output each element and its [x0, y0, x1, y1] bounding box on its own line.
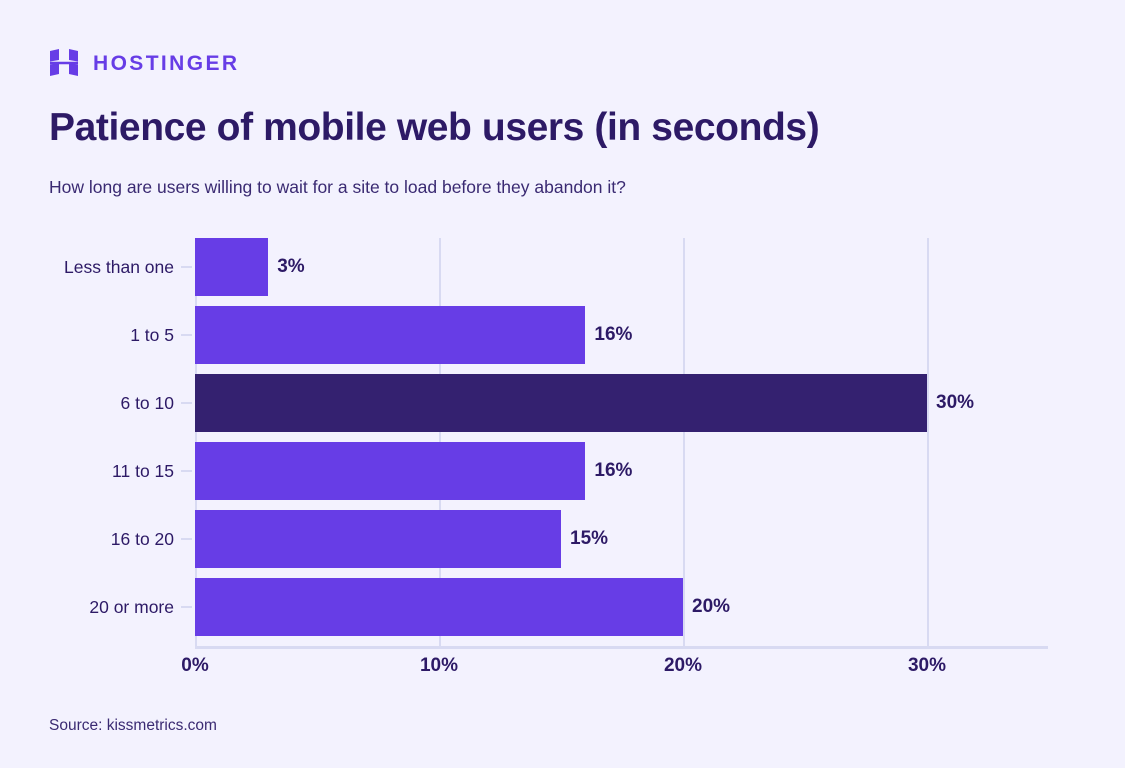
category-label: Less than one — [0, 238, 174, 296]
y-axis-tick-mark — [181, 470, 192, 472]
bar-row: 1 to 516% — [0, 306, 1125, 364]
x-axis-line — [195, 646, 1048, 649]
y-axis-tick-mark — [181, 606, 192, 608]
page-title: Patience of mobile web users (in seconds… — [49, 106, 819, 151]
bar-row: 20 or more20% — [0, 578, 1125, 636]
category-label: 11 to 15 — [0, 442, 174, 500]
bar[interactable] — [195, 442, 585, 500]
page-subtitle: How long are users willing to wait for a… — [49, 176, 626, 199]
bar-row: 11 to 1516% — [0, 442, 1125, 500]
y-axis-tick-mark — [181, 334, 192, 336]
bar-value-label: 15% — [570, 510, 608, 568]
bar-chart: Less than one3%1 to 516%6 to 1030%11 to … — [0, 238, 1125, 650]
category-label: 16 to 20 — [0, 510, 174, 568]
y-axis-tick-mark — [181, 266, 192, 268]
bar[interactable] — [195, 238, 268, 296]
bar-value-label: 20% — [692, 578, 730, 636]
bar-value-label: 16% — [594, 442, 632, 500]
category-label: 6 to 10 — [0, 374, 174, 432]
bar-value-label: 30% — [936, 374, 974, 432]
bar[interactable] — [195, 306, 585, 364]
infographic-page: HOSTINGER Patience of mobile web users (… — [0, 0, 1125, 768]
x-axis-tick-label: 20% — [664, 655, 702, 677]
bar[interactable] — [195, 510, 561, 568]
bar-value-label: 3% — [277, 238, 304, 296]
brand-name: HOSTINGER — [93, 53, 239, 74]
x-axis-tick-label: 30% — [908, 655, 946, 677]
bar[interactable] — [195, 578, 683, 636]
bar-row: 6 to 1030% — [0, 374, 1125, 432]
bar-row: 16 to 2015% — [0, 510, 1125, 568]
y-axis-tick-mark — [181, 402, 192, 404]
x-axis-tick-label: 0% — [181, 655, 208, 677]
bar-value-label: 16% — [594, 306, 632, 364]
category-label: 1 to 5 — [0, 306, 174, 364]
bar-row: Less than one3% — [0, 238, 1125, 296]
y-axis-tick-mark — [181, 538, 192, 540]
category-label: 20 or more — [0, 578, 174, 636]
hostinger-h-logo-icon — [49, 48, 79, 78]
source-note: Source: kissmetrics.com — [49, 717, 217, 735]
bar[interactable] — [195, 374, 927, 432]
brand-logo: HOSTINGER — [49, 48, 239, 78]
x-axis-tick-label: 10% — [420, 655, 458, 677]
